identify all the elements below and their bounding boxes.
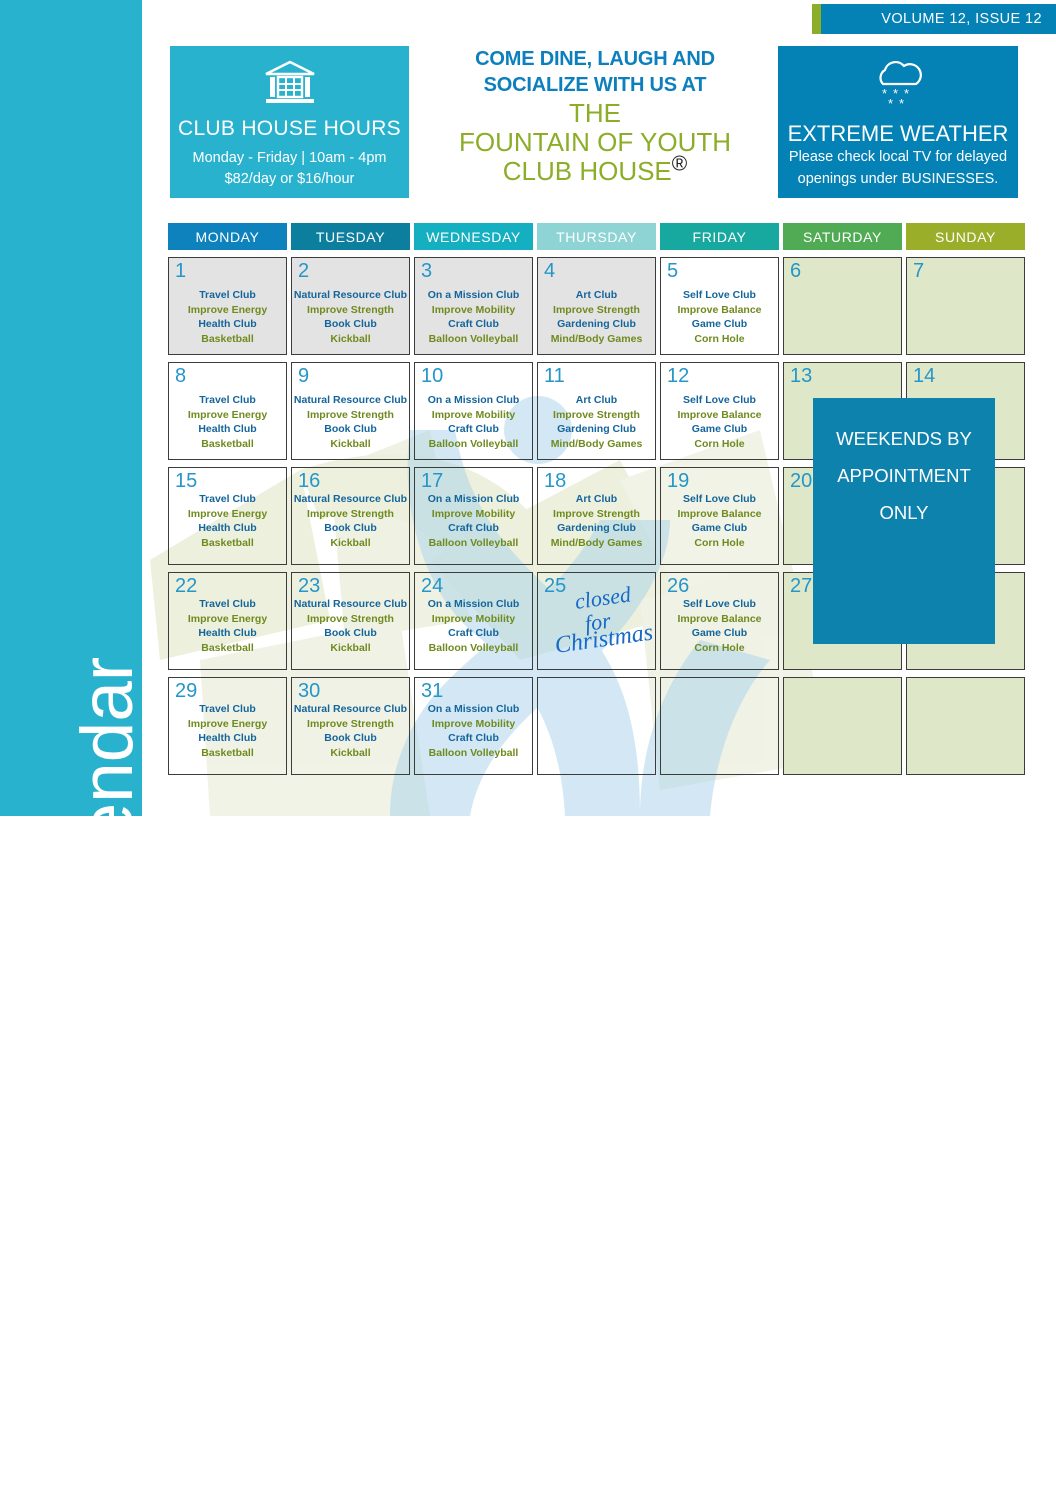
day-number: 7 bbox=[913, 260, 924, 282]
activity-item: Improve Mobility bbox=[415, 507, 532, 522]
day-activities: Travel ClubImprove EnergyHealth ClubBask… bbox=[169, 288, 286, 347]
activity-item: Improve Energy bbox=[169, 408, 286, 423]
day-activities: On a Mission ClubImprove MobilityCraft C… bbox=[415, 702, 532, 761]
clubhouse-hours-panel: CLUB HOUSE HOURS Monday - Friday | 10am … bbox=[170, 46, 409, 198]
calendar-day-30[interactable]: 30Natural Resource ClubImprove StrengthB… bbox=[291, 677, 410, 775]
activity-item: Improve Mobility bbox=[415, 408, 532, 423]
day-activities: Self Love ClubImprove BalanceGame ClubCo… bbox=[661, 288, 778, 347]
activity-item: Basketball bbox=[169, 332, 286, 347]
day-activities: On a Mission ClubImprove MobilityCraft C… bbox=[415, 492, 532, 551]
activity-item: Basketball bbox=[169, 536, 286, 551]
calendar-day-empty[interactable] bbox=[783, 677, 902, 775]
activity-item: Basketball bbox=[169, 641, 286, 656]
extreme-weather-panel: *** ** EXTREME WEATHER Please check loca… bbox=[778, 46, 1018, 198]
activity-item: Game Club bbox=[661, 521, 778, 536]
calendar-day-16[interactable]: 16Natural Resource ClubImprove StrengthB… bbox=[291, 467, 410, 565]
activity-item: Kickball bbox=[292, 536, 409, 551]
calendar-day-18[interactable]: 18Art ClubImprove StrengthGardening Club… bbox=[537, 467, 656, 565]
svg-text:Christmas: Christmas bbox=[556, 619, 655, 658]
activity-item: Natural Resource Club bbox=[292, 597, 409, 612]
day-number: 5 bbox=[667, 260, 678, 282]
day-number: 20 bbox=[790, 470, 812, 492]
activity-item: Natural Resource Club bbox=[292, 702, 409, 717]
day-activities: Travel ClubImprove EnergyHealth ClubBask… bbox=[169, 702, 286, 761]
activity-item: Game Club bbox=[661, 626, 778, 641]
activity-item: Corn Hole bbox=[661, 641, 778, 656]
activity-item: Health Club bbox=[169, 626, 286, 641]
activity-item: Improve Strength bbox=[538, 408, 655, 423]
weather-panel-title: EXTREME WEATHER bbox=[778, 121, 1018, 147]
calendar-day-23[interactable]: 23Natural Resource ClubImprove StrengthB… bbox=[291, 572, 410, 670]
activity-item: Self Love Club bbox=[661, 393, 778, 408]
activity-item: Self Love Club bbox=[661, 288, 778, 303]
activity-item: Kickball bbox=[292, 437, 409, 452]
clubhouse-panel-title: CLUB HOUSE HOURS bbox=[178, 117, 401, 141]
activity-item: Improve Energy bbox=[169, 612, 286, 627]
calendar-day-11[interactable]: 11Art ClubImprove StrengthGardening Club… bbox=[537, 362, 656, 460]
activity-item: Improve Balance bbox=[661, 303, 778, 318]
activity-item: Improve Mobility bbox=[415, 717, 532, 732]
day-activities: Natural Resource ClubImprove StrengthBoo… bbox=[292, 492, 409, 551]
activity-item: On a Mission Club bbox=[415, 702, 532, 717]
day-number: 18 bbox=[544, 470, 566, 492]
calendar-day-6[interactable]: 6 bbox=[783, 257, 902, 355]
day-number: 15 bbox=[175, 470, 197, 492]
day-number: 17 bbox=[421, 470, 443, 492]
calendar-header-tuesday: TUESDAY bbox=[291, 223, 410, 250]
day-number: 14 bbox=[913, 365, 935, 387]
activity-item: Improve Strength bbox=[292, 507, 409, 522]
day-activities: Self Love ClubImprove BalanceGame ClubCo… bbox=[661, 597, 778, 656]
day-number: 19 bbox=[667, 470, 689, 492]
activity-item: Art Club bbox=[538, 492, 655, 507]
activity-item: On a Mission Club bbox=[415, 393, 532, 408]
day-number: 3 bbox=[421, 260, 432, 282]
weekend-notice-line-2: APPOINTMENT bbox=[813, 457, 995, 494]
calendar-day-12[interactable]: 12Self Love ClubImprove BalanceGame Club… bbox=[660, 362, 779, 460]
calendar-day-29[interactable]: 29Travel ClubImprove EnergyHealth ClubBa… bbox=[168, 677, 287, 775]
activity-item: Gardening Club bbox=[538, 317, 655, 332]
day-number: 11 bbox=[544, 365, 565, 387]
calendar-week-row: 29Travel ClubImprove EnergyHealth ClubBa… bbox=[168, 677, 1029, 782]
activity-item: Improve Energy bbox=[169, 717, 286, 732]
registered-trademark-icon: ® bbox=[672, 152, 687, 175]
page-title: Activities Calendar bbox=[74, 657, 142, 1262]
headline-line-2: SOCIALIZE WITH US AT bbox=[420, 72, 770, 98]
activity-item: Improve Energy bbox=[169, 507, 286, 522]
svg-text:*: * bbox=[899, 96, 904, 110]
day-number: 29 bbox=[175, 680, 197, 702]
activity-item: Health Club bbox=[169, 317, 286, 332]
activity-item: Improve Strength bbox=[292, 717, 409, 732]
activity-item: Balloon Volleyball bbox=[415, 536, 532, 551]
activity-item: Game Club bbox=[661, 422, 778, 437]
day-number: 22 bbox=[175, 575, 197, 597]
day-activities: Travel ClubImprove EnergyHealth ClubBask… bbox=[169, 597, 286, 656]
activity-item: Mind/Body Games bbox=[538, 437, 655, 452]
day-number: 27 bbox=[790, 575, 812, 597]
activity-item: Travel Club bbox=[169, 288, 286, 303]
calendar-day-15[interactable]: 15Travel ClubImprove EnergyHealth ClubBa… bbox=[168, 467, 287, 565]
day-number: 2 bbox=[298, 260, 309, 282]
calendar-day-4[interactable]: 4Art ClubImprove StrengthGardening ClubM… bbox=[537, 257, 656, 355]
activity-item: Art Club bbox=[538, 288, 655, 303]
activity-item: Improve Strength bbox=[538, 507, 655, 522]
day-number: 6 bbox=[790, 260, 801, 282]
activity-item: Gardening Club bbox=[538, 521, 655, 536]
calendar-day-8[interactable]: 8Travel ClubImprove EnergyHealth ClubBas… bbox=[168, 362, 287, 460]
activity-item: Improve Balance bbox=[661, 507, 778, 522]
svg-text:*: * bbox=[893, 86, 898, 101]
calendar-day-3[interactable]: 3On a Mission ClubImprove MobilityCraft … bbox=[414, 257, 533, 355]
snow-cloud-icon: *** ** bbox=[866, 97, 930, 114]
day-activities: Natural Resource ClubImprove StrengthBoo… bbox=[292, 597, 409, 656]
calendar-header-sunday: SUNDAY bbox=[906, 223, 1025, 250]
calendar-day-25[interactable]: 25 closed for Christmas bbox=[537, 572, 656, 670]
activity-item: Corn Hole bbox=[661, 536, 778, 551]
calendar-day-5[interactable]: 5Self Love ClubImprove BalanceGame ClubC… bbox=[660, 257, 779, 355]
brand-clubhouse-text: CLUB HOUSE bbox=[503, 156, 672, 186]
calendar-day-10[interactable]: 10On a Mission ClubImprove MobilityCraft… bbox=[414, 362, 533, 460]
day-activities: Art ClubImprove StrengthGardening ClubMi… bbox=[538, 393, 655, 452]
left-rail: December 2025 Activities Calendar bbox=[0, 0, 142, 816]
activity-item: Craft Club bbox=[415, 521, 532, 536]
activity-item: Health Club bbox=[169, 521, 286, 536]
activity-item: Craft Club bbox=[415, 731, 532, 746]
clubhouse-hours-text: Monday - Friday | 10am - 4pm bbox=[193, 148, 387, 169]
day-activities: Natural Resource ClubImprove StrengthBoo… bbox=[292, 702, 409, 761]
weather-panel-line-2: openings under BUSINESSES. bbox=[778, 169, 1018, 191]
weekend-notice-line-3: ONLY bbox=[813, 494, 995, 531]
activity-item: Improve Strength bbox=[538, 303, 655, 318]
calendar-day-17[interactable]: 17On a Mission ClubImprove MobilityCraft… bbox=[414, 467, 533, 565]
activity-item: On a Mission Club bbox=[415, 492, 532, 507]
svg-text:*: * bbox=[904, 86, 909, 101]
svg-text:*: * bbox=[882, 86, 887, 101]
activity-item: Improve Mobility bbox=[415, 612, 532, 627]
calendar-day-19[interactable]: 19Self Love ClubImprove BalanceGame Club… bbox=[660, 467, 779, 565]
calendar-day-22[interactable]: 22Travel ClubImprove EnergyHealth ClubBa… bbox=[168, 572, 287, 670]
activity-item: Mind/Body Games bbox=[538, 332, 655, 347]
volume-accent-stripe bbox=[812, 4, 821, 34]
day-number: 10 bbox=[421, 365, 443, 387]
activity-item: Book Club bbox=[292, 626, 409, 641]
calendar-day-2[interactable]: 2Natural Resource ClubImprove StrengthBo… bbox=[291, 257, 410, 355]
calendar-day-empty[interactable] bbox=[537, 677, 656, 775]
calendar-header-wednesday: WEDNESDAY bbox=[414, 223, 533, 250]
calendar-day-24[interactable]: 24On a Mission ClubImprove MobilityCraft… bbox=[414, 572, 533, 670]
headline-line-1: COME DINE, LAUGH AND bbox=[420, 46, 770, 72]
activity-item: Balloon Volleyball bbox=[415, 437, 532, 452]
day-number: 24 bbox=[421, 575, 443, 597]
activity-item: Craft Club bbox=[415, 626, 532, 641]
activity-item: Improve Strength bbox=[292, 303, 409, 318]
activity-item: Mind/Body Games bbox=[538, 536, 655, 551]
headline-panel: COME DINE, LAUGH AND SOCIALIZE WITH US A… bbox=[420, 46, 770, 198]
day-activities: Self Love ClubImprove BalanceGame ClubCo… bbox=[661, 393, 778, 452]
calendar-day-7[interactable]: 7 bbox=[906, 257, 1025, 355]
calendar-header-friday: FRIDAY bbox=[660, 223, 779, 250]
activity-item: Travel Club bbox=[169, 393, 286, 408]
day-activities: On a Mission ClubImprove MobilityCraft C… bbox=[415, 288, 532, 347]
day-activities: Natural Resource ClubImprove StrengthBoo… bbox=[292, 288, 409, 347]
calendar-day-1[interactable]: 1Travel ClubImprove EnergyHealth ClubBas… bbox=[168, 257, 287, 355]
day-number: 8 bbox=[175, 365, 186, 387]
activity-item: Book Club bbox=[292, 317, 409, 332]
activity-item: Improve Energy bbox=[169, 303, 286, 318]
calendar-month-label: December 2025 bbox=[90, 1261, 142, 1482]
activity-item: Kickball bbox=[292, 746, 409, 761]
weekend-notice-line-1: WEEKENDS BY bbox=[813, 420, 995, 457]
activity-item: Kickball bbox=[292, 332, 409, 347]
day-number: 12 bbox=[667, 365, 689, 387]
day-number: 9 bbox=[298, 365, 309, 387]
day-activities: Art ClubImprove StrengthGardening ClubMi… bbox=[538, 288, 655, 347]
day-number: 23 bbox=[298, 575, 320, 597]
activity-item: Travel Club bbox=[169, 597, 286, 612]
activity-item: Book Club bbox=[292, 422, 409, 437]
activity-item: Travel Club bbox=[169, 492, 286, 507]
activity-item: Craft Club bbox=[415, 422, 532, 437]
day-number: 13 bbox=[790, 365, 812, 387]
activity-item: Game Club bbox=[661, 317, 778, 332]
clubhouse-rate-text: $82/day or $16/hour bbox=[225, 169, 355, 190]
activity-item: Improve Balance bbox=[661, 408, 778, 423]
day-number: 1 bbox=[175, 260, 186, 282]
brand-line-clubhouse: CLUB HOUSE® bbox=[420, 157, 770, 186]
activity-item: Health Club bbox=[169, 422, 286, 437]
activity-item: Improve Strength bbox=[292, 408, 409, 423]
day-number: 30 bbox=[298, 680, 320, 702]
svg-text:*: * bbox=[888, 96, 893, 110]
day-number: 4 bbox=[544, 260, 555, 282]
weather-panel-line-1: Please check local TV for delayed bbox=[778, 147, 1018, 169]
activity-item: Book Club bbox=[292, 731, 409, 746]
calendar-day-9[interactable]: 9Natural Resource ClubImprove StrengthBo… bbox=[291, 362, 410, 460]
day-activities: Travel ClubImprove EnergyHealth ClubBask… bbox=[169, 393, 286, 452]
brand-line-fountain: FOUNTAIN OF YOUTH bbox=[420, 128, 770, 157]
day-number: 26 bbox=[667, 575, 689, 597]
activity-item: Health Club bbox=[169, 731, 286, 746]
activity-item: On a Mission Club bbox=[415, 597, 532, 612]
calendar-header-monday: MONDAY bbox=[168, 223, 287, 250]
activity-item: Gardening Club bbox=[538, 422, 655, 437]
activity-item: Natural Resource Club bbox=[292, 288, 409, 303]
calendar-day-31[interactable]: 31On a Mission ClubImprove MobilityCraft… bbox=[414, 677, 533, 775]
activity-item: Balloon Volleyball bbox=[415, 332, 532, 347]
calendar-header-row: MONDAYTUESDAYWEDNESDAYTHURSDAYFRIDAYSATU… bbox=[168, 223, 1029, 257]
activity-item: Craft Club bbox=[415, 317, 532, 332]
activity-item: Art Club bbox=[538, 393, 655, 408]
activity-item: Improve Strength bbox=[292, 612, 409, 627]
calendar-day-26[interactable]: 26Self Love ClubImprove BalanceGame Club… bbox=[660, 572, 779, 670]
volume-issue-label: VOLUME 12, ISSUE 12 bbox=[821, 4, 1056, 34]
day-activities: On a Mission ClubImprove MobilityCraft C… bbox=[415, 393, 532, 452]
calendar-day-empty[interactable] bbox=[660, 677, 779, 775]
activity-item: Natural Resource Club bbox=[292, 393, 409, 408]
calendar-week-row: 1Travel ClubImprove EnergyHealth ClubBas… bbox=[168, 257, 1029, 362]
day-activities: Travel ClubImprove EnergyHealth ClubBask… bbox=[169, 492, 286, 551]
activity-item: Balloon Volleyball bbox=[415, 746, 532, 761]
activity-item: Corn Hole bbox=[661, 332, 778, 347]
day-activities: Art ClubImprove StrengthGardening ClubMi… bbox=[538, 492, 655, 551]
activity-item: Kickball bbox=[292, 641, 409, 656]
activity-item: Book Club bbox=[292, 521, 409, 536]
activity-item: Improve Mobility bbox=[415, 303, 532, 318]
calendar-header-saturday: SATURDAY bbox=[783, 223, 902, 250]
activity-item: Corn Hole bbox=[661, 437, 778, 452]
day-activities: Natural Resource ClubImprove StrengthBoo… bbox=[292, 393, 409, 452]
activity-item: On a Mission Club bbox=[415, 288, 532, 303]
day-number: 16 bbox=[298, 470, 320, 492]
day-activities: Self Love ClubImprove BalanceGame ClubCo… bbox=[661, 492, 778, 551]
day-activities: On a Mission ClubImprove MobilityCraft C… bbox=[415, 597, 532, 656]
activity-item: Self Love Club bbox=[661, 492, 778, 507]
activity-item: Basketball bbox=[169, 437, 286, 452]
activity-item: Balloon Volleyball bbox=[415, 641, 532, 656]
activity-item: Self Love Club bbox=[661, 597, 778, 612]
calendar-day-empty[interactable] bbox=[906, 677, 1025, 775]
calendar-header-thursday: THURSDAY bbox=[537, 223, 656, 250]
day-number: 31 bbox=[421, 680, 443, 702]
activity-item: Basketball bbox=[169, 746, 286, 761]
activity-item: Natural Resource Club bbox=[292, 492, 409, 507]
bank-building-icon bbox=[264, 60, 316, 111]
brand-line-the: THE bbox=[420, 99, 770, 128]
volume-issue-bar: VOLUME 12, ISSUE 12 bbox=[812, 4, 1056, 34]
activity-item: Improve Balance bbox=[661, 612, 778, 627]
weekends-by-appointment-notice: WEEKENDS BY APPOINTMENT ONLY bbox=[813, 398, 995, 644]
activity-item: Travel Club bbox=[169, 702, 286, 717]
